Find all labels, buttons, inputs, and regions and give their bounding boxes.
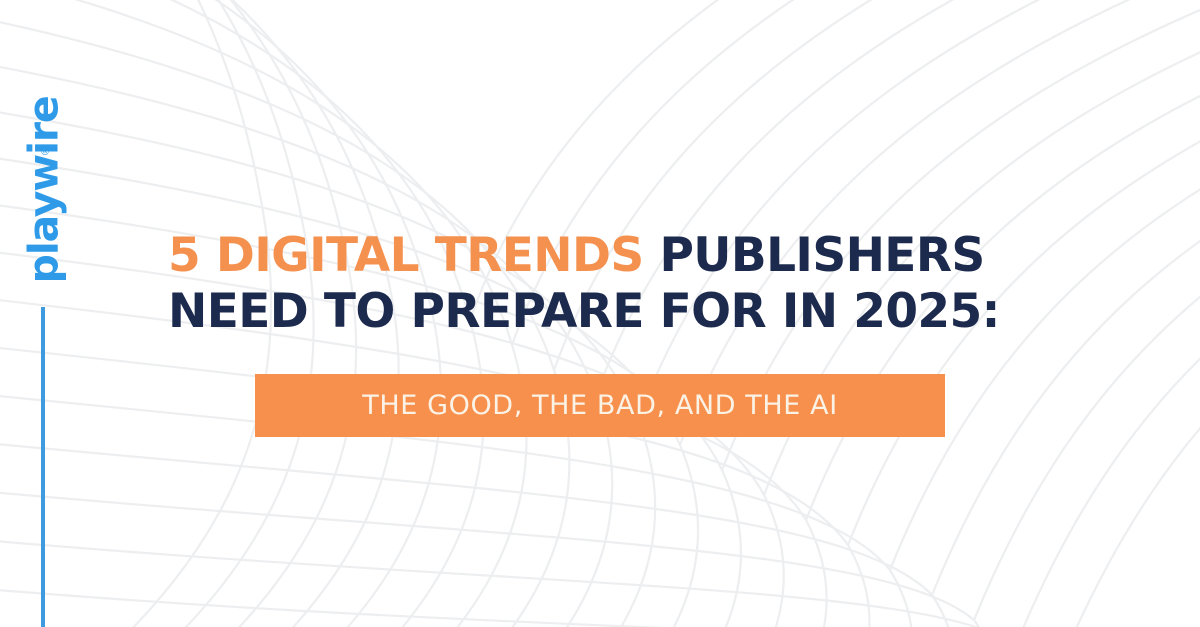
- subtitle-text: THE GOOD, THE BAD, AND THE AI: [362, 392, 838, 419]
- vertical-accent-rule: [41, 307, 45, 627]
- blog-header-banner: playwire ® 5 DIGITAL TRENDS PUBLISHERS N…: [0, 0, 1200, 627]
- headline-rest-text: PUBLISHERS: [644, 228, 985, 283]
- headline-accent-text: 5 DIGITAL TRENDS: [168, 228, 644, 283]
- headline-line-2: NEED TO PREPARE FOR IN 2025:: [168, 284, 1068, 340]
- headline-line-1: 5 DIGITAL TRENDS PUBLISHERS: [168, 228, 1068, 284]
- subtitle-banner: THE GOOD, THE BAD, AND THE AI: [255, 374, 945, 437]
- page-title: 5 DIGITAL TRENDS PUBLISHERS NEED TO PREP…: [168, 228, 1068, 340]
- playwire-logo[interactable]: playwire ®: [14, 70, 74, 310]
- registered-trademark-icon: ®: [40, 148, 50, 158]
- logo-wordmark-text: playwire: [24, 97, 65, 284]
